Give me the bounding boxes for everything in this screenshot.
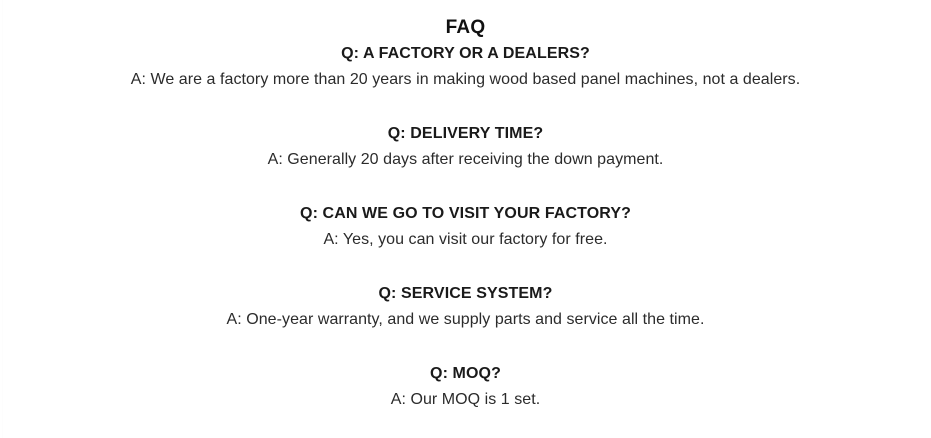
faq-answer: A: Our MOQ is 1 set. [0, 387, 931, 413]
faq-question: Q: A FACTORY OR A DEALERS? [0, 41, 931, 67]
faq-item: Q: SERVICE SYSTEM? A: One-year warranty,… [0, 281, 931, 333]
faq-answer: A: We are a factory more than 20 years i… [0, 67, 931, 93]
faq-question: Q: MOQ? [0, 361, 931, 387]
left-edge-rule [2, 0, 3, 438]
page-title: FAQ [0, 15, 931, 41]
faq-question: Q: DELIVERY TIME? [0, 121, 931, 147]
faq-list: Q: A FACTORY OR A DEALERS? A: We are a f… [0, 41, 931, 413]
faq-item: Q: MOQ? A: Our MOQ is 1 set. [0, 361, 931, 413]
faq-item: Q: CAN WE GO TO VISIT YOUR FACTORY? A: Y… [0, 201, 931, 253]
faq-answer: A: Yes, you can visit our factory for fr… [0, 227, 931, 253]
faq-item: Q: DELIVERY TIME? A: Generally 20 days a… [0, 121, 931, 173]
faq-answer: A: Generally 20 days after receiving the… [0, 147, 931, 173]
faq-answer: A: One-year warranty, and we supply part… [0, 307, 931, 333]
faq-page: FAQ Q: A FACTORY OR A DEALERS? A: We are… [0, 0, 931, 438]
faq-question: Q: SERVICE SYSTEM? [0, 281, 931, 307]
faq-item: Q: A FACTORY OR A DEALERS? A: We are a f… [0, 41, 931, 93]
faq-question: Q: CAN WE GO TO VISIT YOUR FACTORY? [0, 201, 931, 227]
